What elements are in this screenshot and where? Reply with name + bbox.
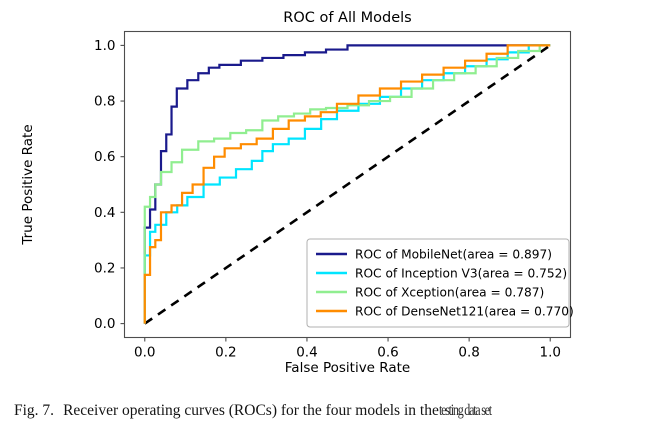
roc-chart-canvas: ROC of All Models 0.00.20.40.60.81.00.00… (0, 0, 651, 390)
x-axis-label: False Positive Rate (285, 360, 410, 376)
y-tick-label: 0.2 (94, 260, 115, 276)
chart-legend[interactable]: ROC of MobileNet(area = 0.897)ROC of Inc… (307, 239, 574, 327)
legend-label-mobilenet: ROC of MobileNet(area = 0.897) (355, 248, 552, 262)
figure-caption: Fig. 7. Receiver operating curves (ROCs)… (0, 392, 651, 429)
x-tick-label: 0.2 (215, 345, 236, 361)
caption-text-tail: testing data set (439, 402, 491, 420)
y-tick-label: 0.0 (94, 316, 115, 332)
legend-label-inception-v3: ROC of Inception V3(area = 0.752) (355, 267, 567, 281)
x-tick-label: 0.4 (296, 345, 317, 361)
caption-text: Receiver operating curves (ROCs) for the… (63, 402, 439, 420)
y-tick-label: 0.8 (94, 94, 115, 110)
x-tick-label: 0.6 (377, 345, 398, 361)
legend-label-xception: ROC of Xception(area = 0.787) (355, 286, 544, 300)
y-tick-label: 0.4 (94, 205, 115, 221)
x-tick-label: 1.0 (539, 345, 560, 361)
legend-label-densenet121: ROC of DenseNet121(area = 0.770) (355, 305, 574, 319)
y-axis-label: True Positive Rate (20, 124, 36, 245)
x-tick-label: 0.0 (134, 345, 155, 361)
caption-figure-number: Fig. 7. (14, 402, 54, 420)
x-tick-label: 0.8 (458, 345, 479, 361)
y-tick-label: 1.0 (94, 38, 115, 54)
y-tick-label: 0.6 (94, 149, 115, 165)
chart-title: ROC of All Models (283, 10, 411, 26)
roc-figure: ROC of All Models 0.00.20.40.60.81.00.00… (0, 0, 651, 390)
